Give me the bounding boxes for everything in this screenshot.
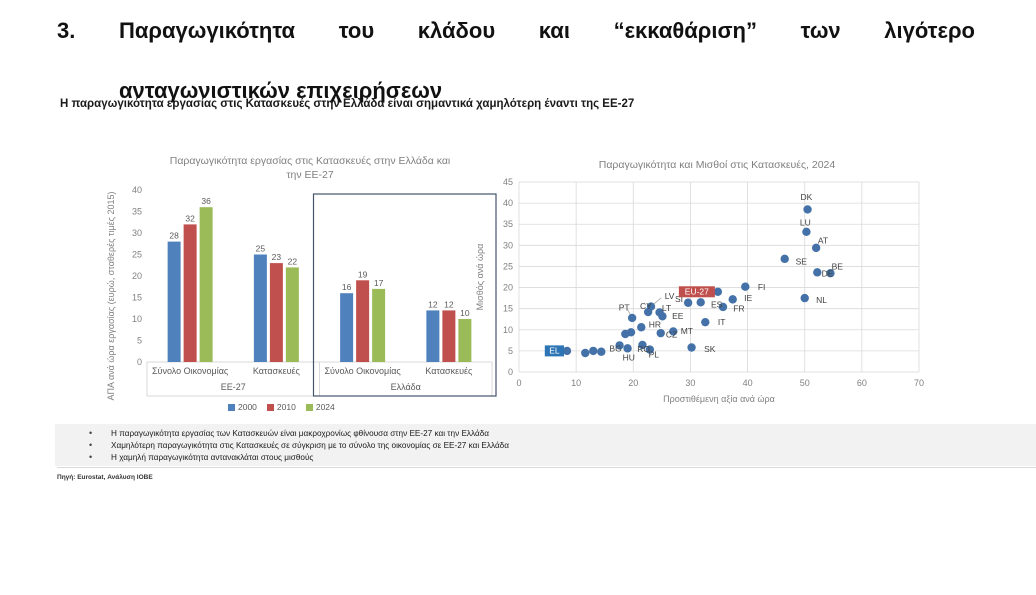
scatter-point-label[interactable]: DE — [822, 269, 834, 279]
bar-group-label[interactable]: Ελλάδα — [391, 382, 421, 392]
scatter-y-tick[interactable]: 0 — [508, 367, 513, 377]
legend-swatch-2024 — [306, 404, 313, 411]
scatter-point[interactable] — [581, 349, 589, 357]
scatter-point-label[interactable]: DK — [801, 192, 813, 202]
bar-value-label[interactable]: 22 — [288, 256, 298, 266]
scatter-x-tick[interactable]: 50 — [800, 378, 810, 388]
bullet-list: Η παραγωγικότητα εργασίας των Κατασκευών… — [55, 424, 1036, 466]
scatter-x-tick[interactable]: 10 — [571, 378, 581, 388]
slide-title: 3. Παραγωγικότητα του κλάδου και “εκκαθά… — [57, 16, 977, 106]
legend-label-2000: 2000 — [238, 402, 257, 412]
bar-value-label[interactable]: 12 — [444, 299, 454, 309]
bar-rect[interactable] — [356, 280, 369, 362]
scatter-y-tick[interactable]: 45 — [503, 177, 513, 187]
scatter-y-tick[interactable]: 30 — [503, 240, 513, 250]
scatter-point-label[interactable]: MT — [681, 326, 693, 336]
scatter-point[interactable] — [628, 314, 636, 322]
bar-chart-title: Παραγωγικότητα εργασίας στις Κατασκευές … — [130, 154, 490, 182]
scatter-point-label[interactable]: IE — [744, 293, 752, 303]
scatter-y-tick[interactable]: 40 — [503, 198, 513, 208]
scatter-x-tick[interactable]: 60 — [857, 378, 867, 388]
scatter-point-label[interactable]: AT — [818, 236, 828, 246]
scatter-y-tick[interactable]: 10 — [503, 325, 513, 335]
source-note: Πηγή: Eurostat, Ανάλυση ΙΟΒΕ — [57, 474, 153, 483]
legend-item-2010: 2010 — [267, 402, 296, 412]
scatter-point[interactable] — [657, 329, 665, 337]
bar-value-label[interactable]: 16 — [342, 282, 352, 292]
bar-category-label[interactable]: Κατασκευές — [425, 366, 473, 376]
scatter-chart-canvas: 051015202530354045010203040506070Προστιθ… — [467, 150, 967, 430]
bar-rect[interactable] — [254, 255, 267, 363]
scatter-y-tick[interactable]: 5 — [508, 346, 513, 356]
bar-value-label[interactable]: 28 — [169, 231, 179, 241]
scatter-point[interactable] — [637, 323, 645, 331]
bar-rect[interactable] — [340, 293, 353, 362]
bar-value-label[interactable]: 12 — [428, 299, 438, 309]
scatter-x-tick[interactable]: 40 — [743, 378, 753, 388]
slide-root: 3. Παραγωγικότητα του κλάδου και “εκκαθά… — [0, 0, 1036, 595]
scatter-point-label[interactable]: LT — [662, 303, 671, 313]
legend-item-2000: 2000 — [228, 402, 257, 412]
bar-chart-title-line1: Παραγωγικότητα εργασίας στις Κατασκευές … — [170, 155, 451, 167]
scatter-point-label[interactable]: IT — [718, 317, 726, 327]
scatter-point[interactable] — [684, 299, 692, 307]
scatter-point[interactable] — [687, 343, 695, 351]
bar-rect[interactable] — [372, 289, 385, 362]
bar-chart-legend: 2000 2010 2024 — [228, 402, 335, 412]
scatter-chart-title: Παραγωγικότητα και Μισθοί στις Κατασκευέ… — [487, 158, 947, 172]
scatter-point-label[interactable]: EE — [672, 311, 684, 321]
scatter-point-label[interactable]: HU — [623, 353, 635, 363]
bar-y-tick[interactable]: 40 — [132, 185, 142, 195]
bar-rect[interactable] — [426, 310, 439, 362]
scatter-point-label[interactable]: PT — [619, 302, 630, 312]
scatter-x-tick[interactable]: 0 — [516, 378, 521, 388]
bar-rect[interactable] — [442, 310, 455, 362]
bar-rect[interactable] — [286, 267, 299, 362]
scatter-point-label[interactable]: ES — [711, 299, 723, 309]
scatter-point[interactable] — [813, 268, 821, 276]
bar-chart: Παραγωγικότητα εργασίας στις Κατασκευές … — [100, 150, 500, 430]
scatter-point[interactable] — [623, 344, 631, 352]
legend-item-2024: 2024 — [306, 402, 335, 412]
bar-rect[interactable] — [270, 263, 283, 362]
scatter-point[interactable] — [802, 228, 810, 236]
scatter-badge-label[interactable]: EL — [549, 345, 560, 355]
legend-label-2024: 2024 — [316, 402, 335, 412]
scatter-point-highlight[interactable] — [714, 288, 722, 296]
scatter-point[interactable] — [589, 347, 597, 355]
scatter-y-tick[interactable]: 35 — [503, 219, 513, 229]
scatter-y-tick[interactable]: 15 — [503, 304, 513, 314]
bar-y-tick[interactable]: 35 — [132, 207, 142, 217]
bar-group-label[interactable]: ΕΕ-27 — [221, 382, 246, 392]
bar-y-tick[interactable]: 15 — [132, 293, 142, 303]
bar-category-label[interactable]: Σύνολο Οικονομίας — [324, 366, 401, 376]
scatter-point-label[interactable]: FI — [758, 282, 766, 292]
scatter-point-label[interactable]: LU — [800, 218, 811, 228]
scatter-point-label[interactable]: SK — [704, 344, 716, 354]
bullet-item: Η χαμηλή παραγωγικότητα αντανακλάται στο… — [55, 452, 1036, 464]
bar-rect[interactable] — [200, 207, 213, 362]
slide-number: 3. — [57, 16, 119, 106]
bar-y-tick[interactable]: 20 — [132, 271, 142, 281]
scatter-x-tick[interactable]: 30 — [685, 378, 695, 388]
bar-y-tick[interactable]: 10 — [132, 314, 142, 324]
bullet-item: Χαμηλότερη παραγωγικότητα στις Κατασκευέ… — [55, 440, 1036, 452]
legend-swatch-2010 — [267, 404, 274, 411]
scatter-point[interactable] — [803, 205, 811, 213]
bar-chart-canvas: 0510152025303540ΑΠΑ ανά ώρα εργασίας (ευ… — [100, 150, 500, 430]
scatter-badge-label[interactable]: EU-27 — [685, 286, 709, 296]
scatter-point-label[interactable]: FR — [733, 304, 744, 314]
scatter-point-label[interactable]: PL — [649, 350, 660, 360]
divider — [57, 467, 1036, 468]
charts-container: Παραγωγικότητα εργασίας στις Κατασκευές … — [57, 150, 977, 430]
bar-value-label[interactable]: 17 — [374, 278, 384, 288]
scatter-x-axis-label[interactable]: Προστιθέμενη αξία ανά ώρα — [663, 394, 775, 404]
scatter-point-label[interactable]: LV — [665, 291, 675, 301]
scatter-point-highlight[interactable] — [563, 347, 571, 355]
scatter-point-label[interactable]: SE — [796, 256, 808, 266]
bar-rect[interactable] — [184, 224, 197, 362]
legend-swatch-2000 — [228, 404, 235, 411]
scatter-point[interactable] — [729, 295, 737, 303]
scatter-point[interactable] — [781, 255, 789, 263]
scatter-point-label[interactable]: CZ — [666, 329, 677, 339]
scatter-point[interactable] — [801, 294, 809, 302]
slide-title-text: Παραγωγικότητα του κλάδου και “εκκαθάρισ… — [119, 16, 975, 106]
bar-y-tick[interactable]: 25 — [132, 250, 142, 260]
legend-label-2010: 2010 — [277, 402, 296, 412]
bar-value-label[interactable]: 23 — [272, 252, 282, 262]
bar-value-label[interactable]: 36 — [201, 196, 211, 206]
slide-title-line1: Παραγωγικότητα του κλάδου και “εκκαθάρισ… — [119, 16, 975, 76]
bar-y-tick[interactable]: 5 — [137, 336, 142, 346]
scatter-x-tick[interactable]: 20 — [628, 378, 638, 388]
scatter-point-label[interactable]: NL — [816, 295, 827, 305]
scatter-point[interactable] — [627, 328, 635, 336]
bar-value-label[interactable]: 32 — [185, 213, 195, 223]
bar-category-label[interactable]: Σύνολο Οικονομίας — [152, 366, 229, 376]
scatter-y-tick[interactable]: 20 — [503, 283, 513, 293]
scatter-x-tick[interactable]: 70 — [914, 378, 924, 388]
scatter-y-axis-label[interactable]: Μισθός ανά ώρα — [475, 244, 485, 311]
bar-chart-title-line2: την ΕΕ-27 — [286, 169, 333, 181]
scatter-chart: Παραγωγικότητα και Μισθοί στις Κατασκευέ… — [467, 150, 967, 430]
bar-y-axis-label[interactable]: ΑΠΑ ανά ώρα εργασίας (ευρώ, σταθερές τιμ… — [106, 191, 116, 400]
scatter-point-label[interactable]: HR — [649, 319, 661, 329]
bullet-item: Η παραγωγικότητα εργασίας των Κατασκευών… — [55, 428, 1036, 440]
scatter-point-label[interactable]: CY — [640, 301, 652, 311]
bar-y-tick[interactable]: 30 — [132, 228, 142, 238]
scatter-y-tick[interactable]: 25 — [503, 261, 513, 271]
scatter-point[interactable] — [741, 283, 749, 291]
bar-y-tick[interactable]: 0 — [137, 357, 142, 367]
scatter-point-label[interactable]: BG — [609, 343, 621, 353]
bar-value-label[interactable]: 19 — [358, 269, 368, 279]
bar-category-label[interactable]: Κατασκευές — [253, 366, 301, 376]
scatter-point[interactable] — [697, 298, 705, 306]
bar-value-label[interactable]: 25 — [256, 244, 266, 254]
scatter-point[interactable] — [597, 348, 605, 356]
slide-subtitle: Η παραγωγικότητα εργασίας στις Κατασκευέ… — [60, 96, 760, 112]
bar-rect[interactable] — [168, 242, 181, 362]
scatter-point[interactable] — [701, 318, 709, 326]
